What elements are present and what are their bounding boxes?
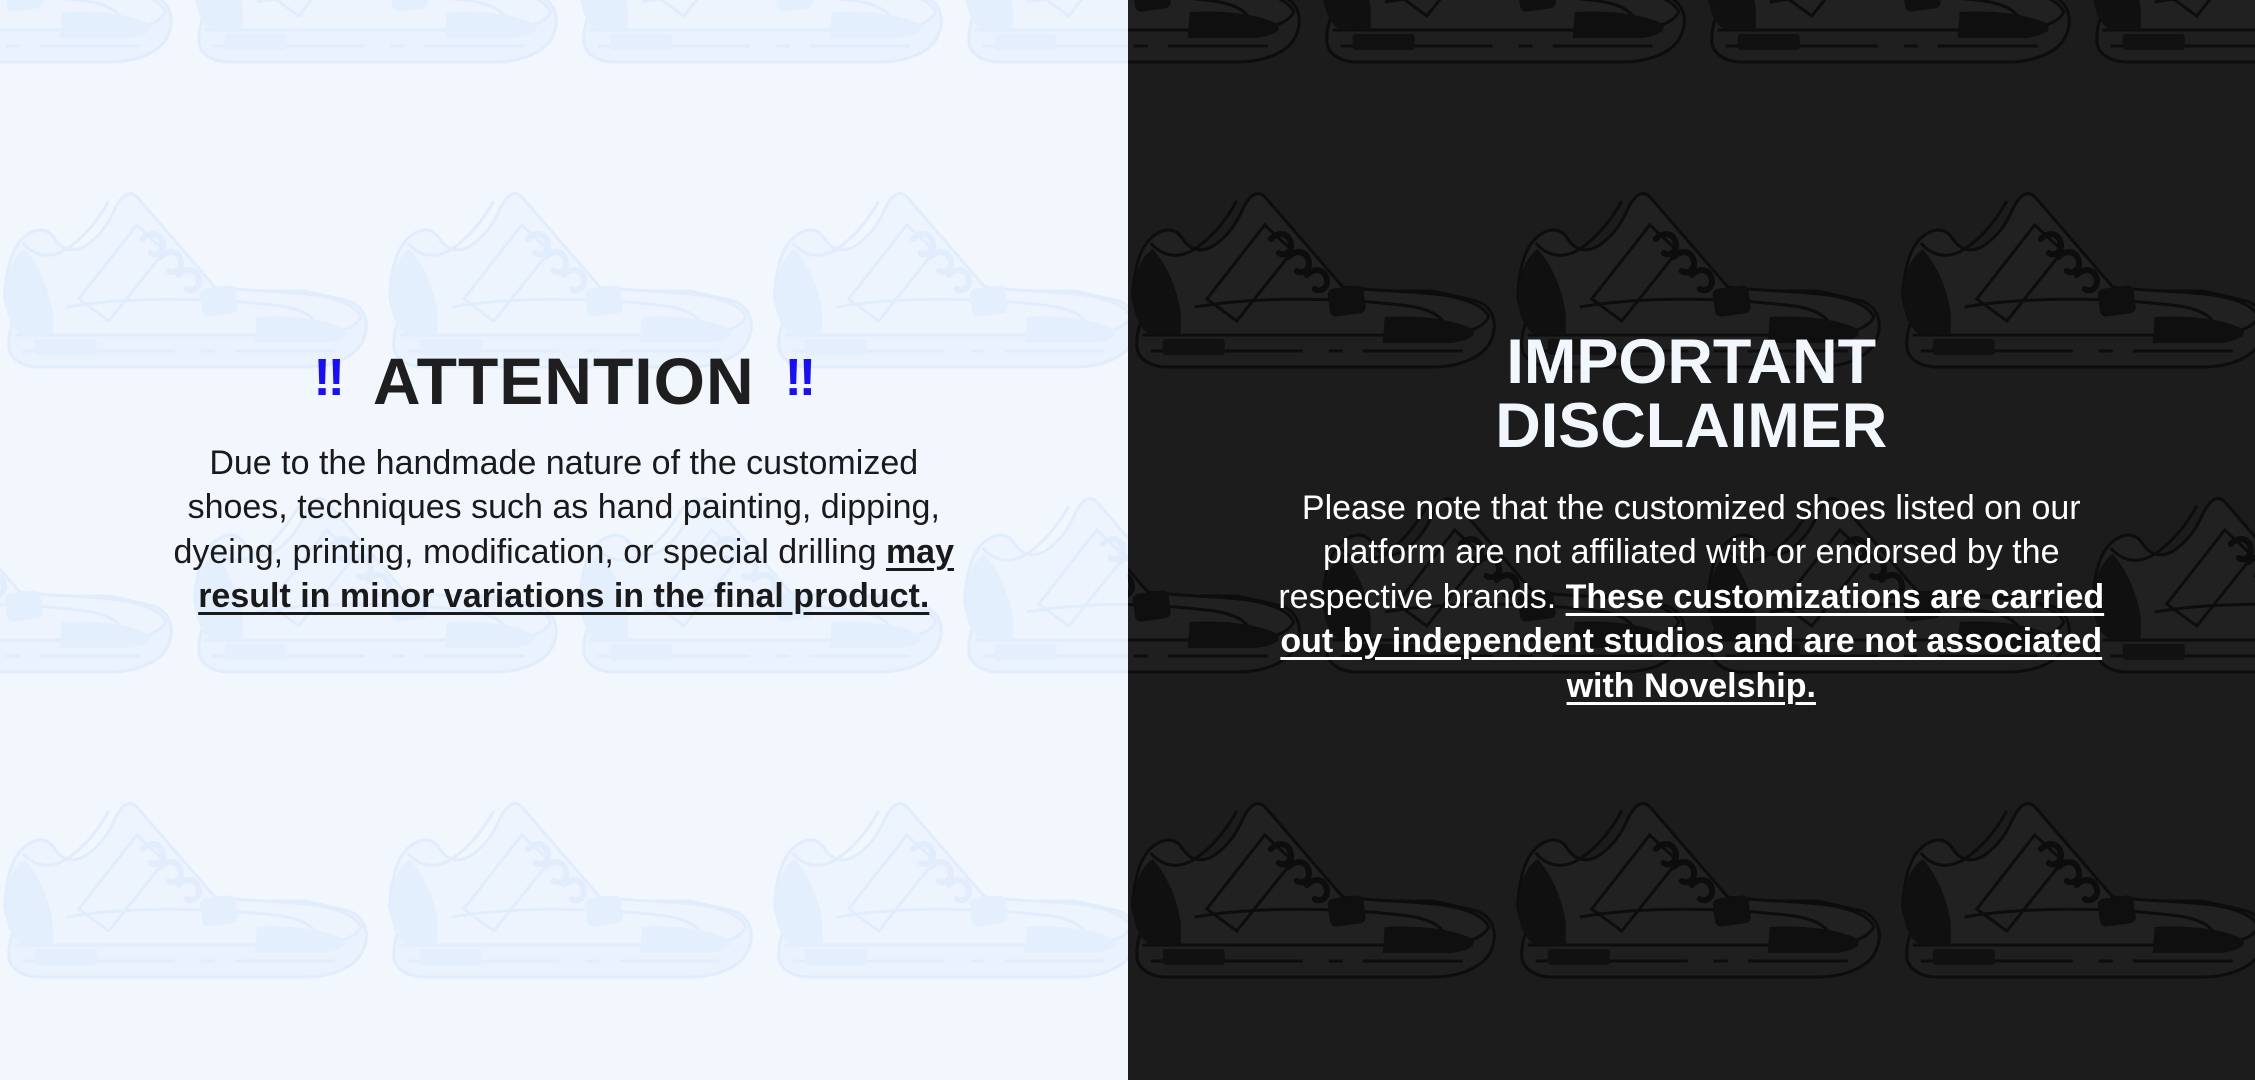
disclaimer-heading: IMPORTANT DISCLAIMER: [1311, 330, 2071, 459]
double-exclamation-left-icon: ‼: [313, 352, 342, 404]
double-exclamation-right-icon: ‼: [785, 352, 814, 404]
attention-heading-text: ATTENTION: [373, 349, 755, 414]
disclaimer-panel: IMPORTANT DISCLAIMER Please note that th…: [1128, 0, 2255, 1080]
attention-heading: ‼ ATTENTION ‼: [313, 349, 814, 414]
attention-body: Due to the handmade nature of the custom…: [164, 441, 964, 619]
attention-content: ‼ ATTENTION ‼ Due to the handmade nature…: [0, 0, 1128, 619]
attention-body-plain: Due to the handmade nature of the custom…: [173, 444, 939, 571]
attention-panel: ‼ ATTENTION ‼ Due to the handmade nature…: [0, 0, 1128, 1080]
disclaimer-body: Please note that the customized shoes li…: [1276, 486, 2106, 709]
disclaimer-content: IMPORTANT DISCLAIMER Please note that th…: [1128, 0, 2255, 708]
customization-notice-banner: ‼ ATTENTION ‼ Due to the handmade nature…: [0, 0, 2255, 1080]
